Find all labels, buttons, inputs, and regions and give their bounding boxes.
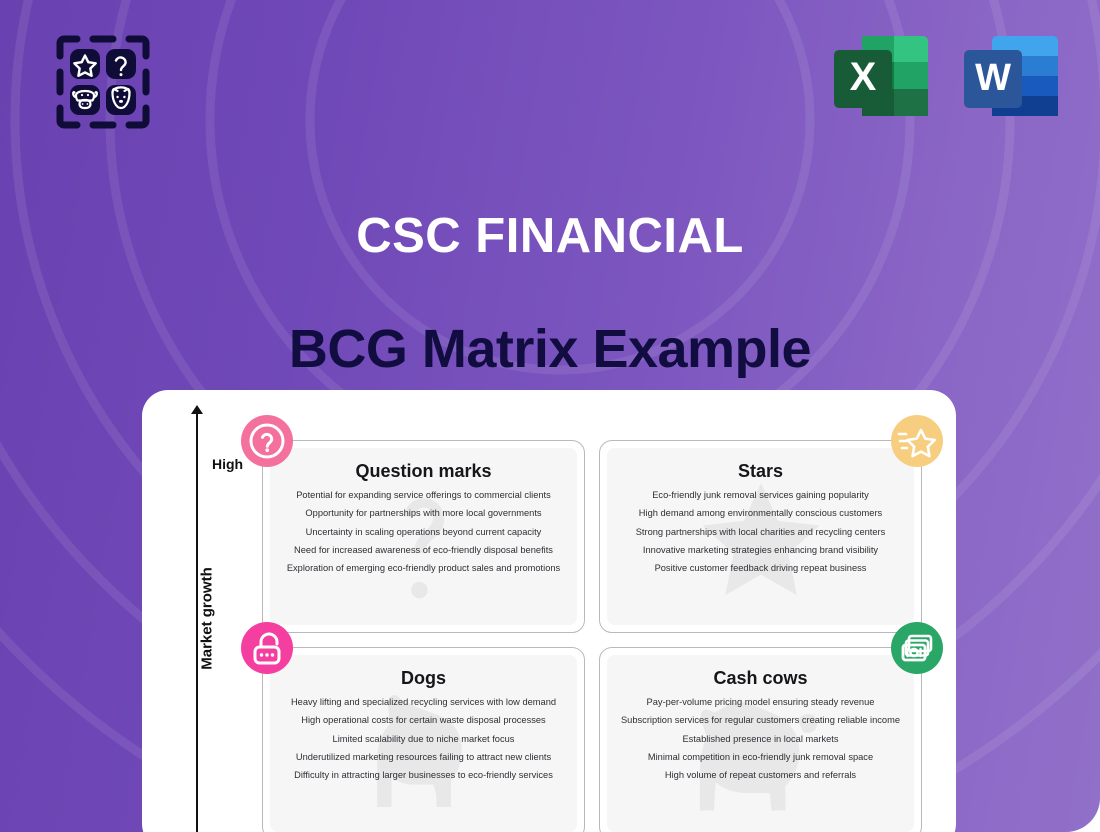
banknotes-icon[interactable] (891, 622, 943, 674)
quadrant-question-marks[interactable]: Question marks Potential for expanding s… (262, 440, 585, 633)
quadrant-title: Cash cows (607, 668, 914, 689)
list-item: Subscription services for regular custom… (614, 716, 907, 725)
list-item: Need for increased awareness of eco-frie… (277, 546, 570, 555)
list-item: Difficulty in attracting larger business… (277, 771, 570, 780)
page-title: BCG Matrix Example (0, 318, 1100, 380)
quadrant-body: Question marks Potential for expanding s… (270, 448, 577, 625)
quadrant-items: Heavy lifting and specialized recycling … (270, 698, 577, 780)
quadrant-body: Stars Eco-friendly junk removal services… (607, 448, 914, 625)
svg-text:W: W (975, 57, 1011, 99)
y-axis-high-label: High (212, 456, 243, 472)
open-padlock-icon[interactable] (241, 622, 293, 674)
word-icon[interactable]: W (960, 28, 1062, 124)
list-item: Limited scalability due to niche market … (277, 735, 570, 744)
quadrant-title: Dogs (270, 668, 577, 689)
list-item: Established presence in local markets (614, 735, 907, 744)
brand-title: CSC FINANCIAL (0, 208, 1100, 264)
list-item: Innovative marketing strategies enhancin… (614, 546, 907, 555)
list-item: Exploration of emerging eco-friendly pro… (277, 564, 570, 573)
quadrant-title: Stars (607, 461, 914, 482)
excel-icon[interactable]: X (830, 28, 932, 124)
list-item: Strong partnerships with local charities… (614, 528, 907, 537)
quadrant-items: Pay-per-volume pricing model ensuring st… (607, 698, 914, 780)
list-item: Positive customer feedback driving repea… (614, 564, 907, 573)
list-item: High volume of repeat customers and refe… (614, 771, 907, 780)
quadrant-body: Dogs Heavy lifting and specialized recyc… (270, 655, 577, 832)
quadrant-title: Question marks (270, 461, 577, 482)
y-axis-arrow-icon (191, 405, 203, 414)
bcg-matrix-card: High Market growth (142, 390, 956, 832)
quadrant-cash-cows[interactable]: Cash cows Pay-per-volume pricing model e… (599, 647, 922, 832)
quadrant-items: Eco-friendly junk removal services gaini… (607, 491, 914, 573)
quadrant-items: Potential for expanding service offering… (270, 491, 577, 573)
question-mark-circle-icon[interactable] (241, 415, 293, 467)
list-item: High demand among environmentally consci… (614, 509, 907, 518)
y-axis: High Market growth (172, 412, 244, 832)
list-item: Minimal competition in eco-friendly junk… (614, 753, 907, 762)
list-item: Potential for expanding service offering… (277, 491, 570, 500)
list-item: Heavy lifting and specialized recycling … (277, 698, 570, 707)
list-item: High operational costs for certain waste… (277, 716, 570, 725)
quadrant-grid: Question marks Potential for expanding s… (262, 440, 922, 832)
shooting-star-icon[interactable] (891, 415, 943, 467)
office-icons: X W (830, 28, 1062, 124)
list-item: Eco-friendly junk removal services gaini… (614, 491, 907, 500)
list-item: Underutilized marketing resources failin… (277, 753, 570, 762)
quadrant-body: Cash cows Pay-per-volume pricing model e… (607, 655, 914, 832)
quadrant-dogs[interactable]: Dogs Heavy lifting and specialized recyc… (262, 647, 585, 832)
list-item: Pay-per-volume pricing model ensuring st… (614, 698, 907, 707)
quadrant-stars[interactable]: Stars Eco-friendly junk removal services… (599, 440, 922, 633)
svg-text:X: X (850, 55, 877, 99)
y-axis-title: Market growth (199, 554, 216, 684)
bcg-logo-icon[interactable] (55, 34, 151, 130)
poster-root: X W CSC FINANCIAL BCG Matrix Example Hig… (0, 0, 1100, 832)
list-item: Opportunity for partnerships with more l… (277, 509, 570, 518)
list-item: Uncertainty in scaling operations beyond… (277, 528, 570, 537)
